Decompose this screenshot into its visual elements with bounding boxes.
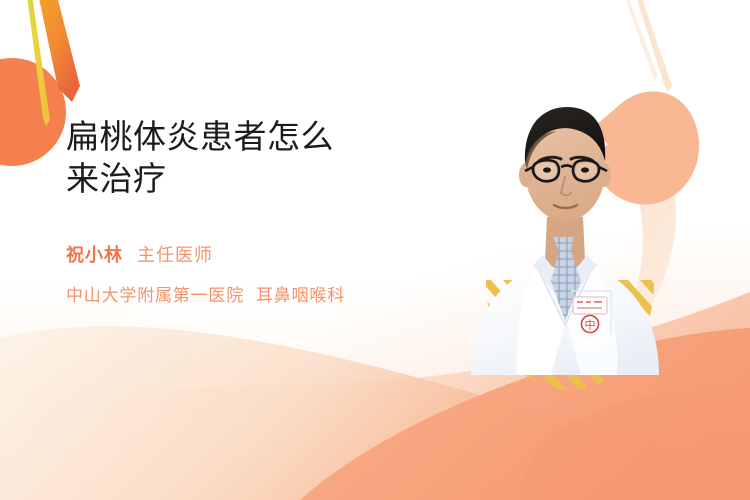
doctor-byline: 祝小林主任医师 bbox=[66, 243, 466, 268]
doctor-affiliation: 中山大学附属第一医院耳鼻咽喉科 bbox=[66, 281, 466, 306]
title-line-2: 来治疗 bbox=[66, 160, 167, 197]
badge-symbol: 中 bbox=[585, 319, 596, 332]
doctor-title: 主任医师 bbox=[137, 245, 213, 265]
doctor-name: 祝小林 bbox=[66, 245, 123, 265]
faint-stroke-bottom-left bbox=[120, 330, 260, 440]
page-title: 扁桃体炎患者怎么来治疗 bbox=[66, 116, 466, 199]
title-line-1: 扁桃体炎患者怎么 bbox=[66, 118, 334, 155]
doctor-portrait: 中 bbox=[455, 85, 675, 375]
department-name: 耳鼻咽喉科 bbox=[256, 286, 345, 305]
text-block: 扁桃体炎患者怎么来治疗 祝小林主任医师 中山大学附属第一医院耳鼻咽喉科 bbox=[66, 116, 466, 306]
health-article-card: 中 扁桃体炎患者怎么来治疗 祝小林主任医师 中山大学附属第一医院耳鼻咽喉科 bbox=[0, 0, 750, 500]
hospital-name: 中山大学附属第一医院 bbox=[66, 286, 244, 305]
